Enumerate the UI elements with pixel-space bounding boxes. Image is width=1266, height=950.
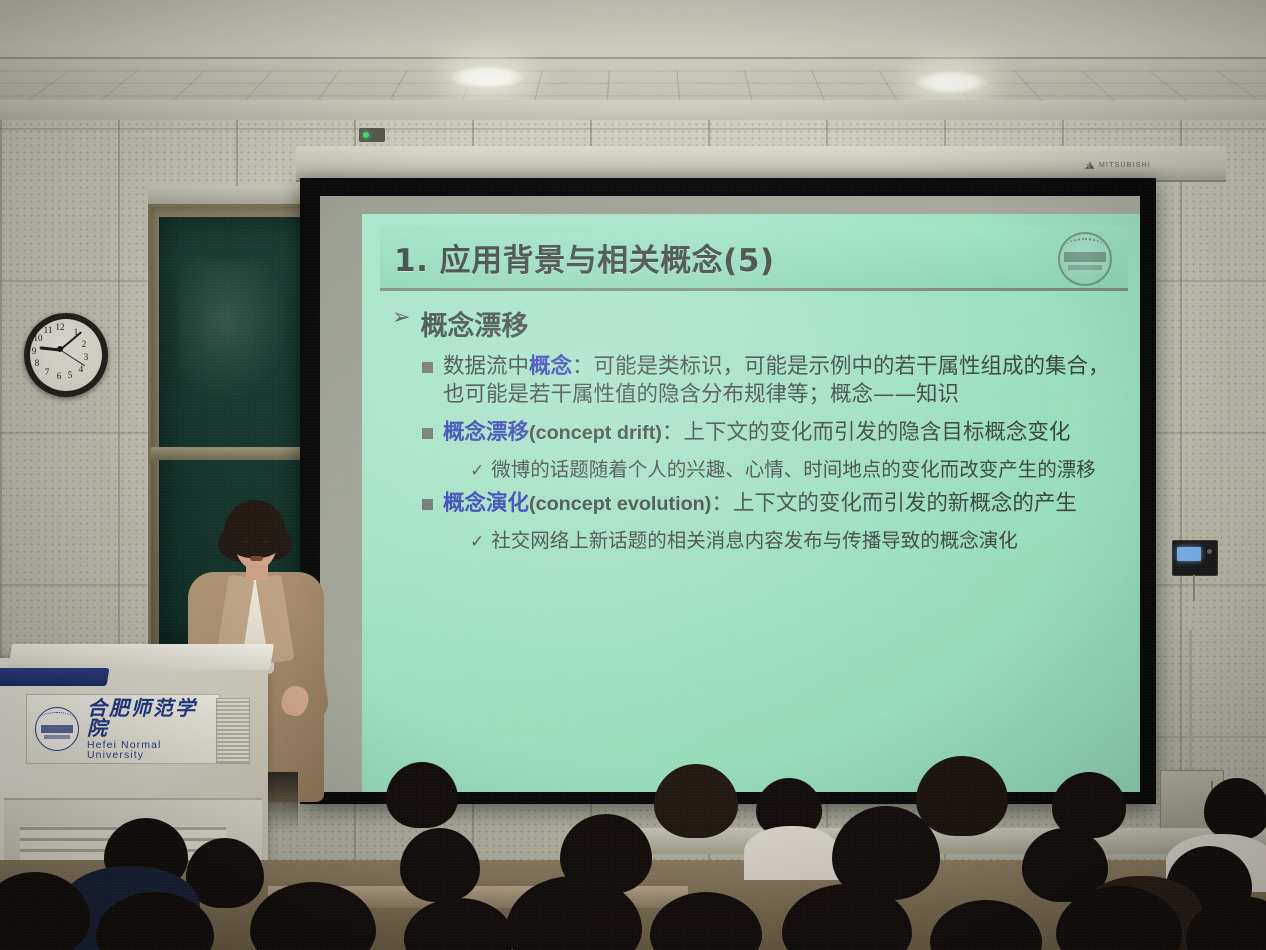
clock-num-9: 9 — [32, 346, 37, 356]
highlighted-term: 概念演化 — [443, 491, 529, 516]
slide-title-bar: 1. 应用背景与相关概念(5) — [380, 226, 1128, 291]
lecture-hall-photo: MITSUBISHI 12 1 2 3 4 5 6 7 8 9 10 11 — [0, 0, 1266, 950]
audience-head — [400, 828, 480, 902]
slide-bullet-level2: 数据流中概念：可能是类标识，可能是示例中的若干属性组成的集合，也可能是若干属性值… — [422, 353, 1126, 409]
square-bullet-icon — [422, 428, 433, 439]
ceiling-seam — [0, 57, 1266, 59]
highlighted-term: 概念 — [529, 354, 572, 379]
clock-num-10: 10 — [34, 333, 43, 343]
clock-num-5: 5 — [68, 370, 73, 380]
clock-center-pin — [57, 346, 63, 352]
slide-bullet-level3: ✓ 社交网络上新话题的相关消息内容发布与传播导致的概念演化 — [470, 528, 1126, 553]
slide-body: ➢ 概念漂移 数据流中概念：可能是类标识，可能是示例中的若干属性组成的集合，也可… — [386, 304, 1126, 784]
wall-top-trim — [0, 100, 1266, 120]
status-led-icon — [363, 132, 369, 138]
audience-shoulders — [744, 826, 840, 880]
wall-control-panel[interactable] — [1172, 540, 1218, 576]
projection-screen-frame: 1. 应用背景与相关概念(5) ➢ 概念漂移 — [300, 178, 1156, 804]
slide-bullet-text: 概念漂移 — [420, 304, 528, 343]
ceiling-light — [451, 65, 523, 89]
check-bullet-icon: ✓ — [470, 531, 484, 553]
lectern-top-surface — [8, 644, 274, 670]
wall-conduit — [1189, 630, 1192, 776]
presenter-eye-right — [262, 540, 269, 543]
seal-band-lower — [44, 735, 70, 739]
presenter-mouth — [250, 556, 263, 561]
clock-num-3: 3 — [84, 352, 89, 362]
slide-bullet-text: 社交网络上新话题的相关消息内容发布与传播导致的概念演化 — [491, 528, 1018, 553]
clock-num-8: 8 — [35, 358, 40, 368]
clock-num-12: 12 — [56, 322, 65, 332]
slide-bullet-text: 概念演化(concept evolution)：上下文的变化而引发的新概念的产生 — [443, 490, 1077, 518]
slide-bullet-level2: 概念漂移(concept drift)：上下文的变化而引发的隐含目标概念变化 — [422, 419, 1126, 447]
university-seal-icon — [1058, 232, 1112, 286]
audience-head — [1204, 778, 1266, 840]
seal-band — [41, 725, 73, 733]
arrow-bullet-icon: ➢ — [392, 304, 410, 333]
university-name-cn: 合肥师范学院 — [87, 698, 211, 738]
slide-bullet-text: 概念漂移(concept drift)：上下文的变化而引发的隐含目标概念变化 — [443, 419, 1070, 447]
microphone-bar — [0, 668, 109, 686]
seal-band-lower — [1068, 265, 1102, 270]
clock-num-7: 7 — [45, 367, 50, 377]
lectern-nameplate: 合肥师范学院 Hefei Normal University — [26, 694, 220, 764]
seal-band — [1064, 252, 1106, 262]
ceiling — [0, 0, 1266, 108]
slide-bullet-level2: 概念演化(concept evolution)：上下文的变化而引发的新概念的产生 — [422, 490, 1126, 518]
audience-head — [386, 762, 458, 828]
lectern-speaker-grille — [216, 698, 250, 764]
presenter-eye-left — [242, 540, 249, 543]
lectern-name-text: 合肥师范学院 Hefei Normal University — [87, 698, 211, 761]
slide-bullet-level1: ➢ 概念漂移 — [392, 304, 1126, 343]
chalk-smudge — [179, 260, 295, 411]
clock-num-6: 6 — [57, 371, 62, 381]
panel-display-icon — [1177, 547, 1201, 561]
seal-arc — [40, 712, 74, 725]
projector-brand-plate: MITSUBISHI — [1084, 158, 1202, 172]
presentation-slide: 1. 应用背景与相关概念(5) ➢ 概念漂移 — [362, 214, 1140, 792]
audience-head — [654, 764, 738, 838]
wall-clock: 12 1 2 3 4 5 6 7 8 9 10 11 — [24, 313, 108, 397]
mitsubishi-logo-icon — [1084, 161, 1095, 170]
highlighted-term: 概念漂移 — [443, 420, 529, 445]
slide-bullet-text: 数据流中概念：可能是类标识，可能是示例中的若干属性组成的集合，也可能是若干属性值… — [443, 353, 1126, 409]
projection-screen-surface: 1. 应用背景与相关概念(5) ➢ 概念漂移 — [320, 196, 1140, 792]
slide-title: 1. 应用背景与相关概念(5) — [380, 235, 775, 280]
audience-head — [916, 756, 1008, 836]
panel-conduit — [1193, 575, 1195, 601]
square-bullet-icon — [422, 499, 433, 510]
projector-brand-label: MITSUBISHI — [1099, 162, 1151, 169]
square-bullet-icon — [422, 362, 433, 373]
clock-num-11: 11 — [44, 325, 53, 335]
slide-bullet-text: 微博的话题随着个人的兴趣、心情、时间地点的变化而改变产生的漂移 — [491, 457, 1096, 482]
ceiling-light — [915, 70, 987, 94]
slide-bullet-level3: ✓ 微博的话题随着个人的兴趣、心情、时间地点的变化而改变产生的漂移 — [470, 457, 1126, 482]
university-name-en: Hefei Normal University — [87, 740, 211, 761]
panel-led-icon — [1207, 549, 1212, 554]
clock-num-2: 2 — [82, 339, 87, 349]
university-seal-icon — [35, 707, 79, 751]
presenter-hair — [224, 500, 286, 558]
ir-sensor-box — [359, 128, 385, 142]
check-bullet-icon: ✓ — [470, 460, 484, 482]
